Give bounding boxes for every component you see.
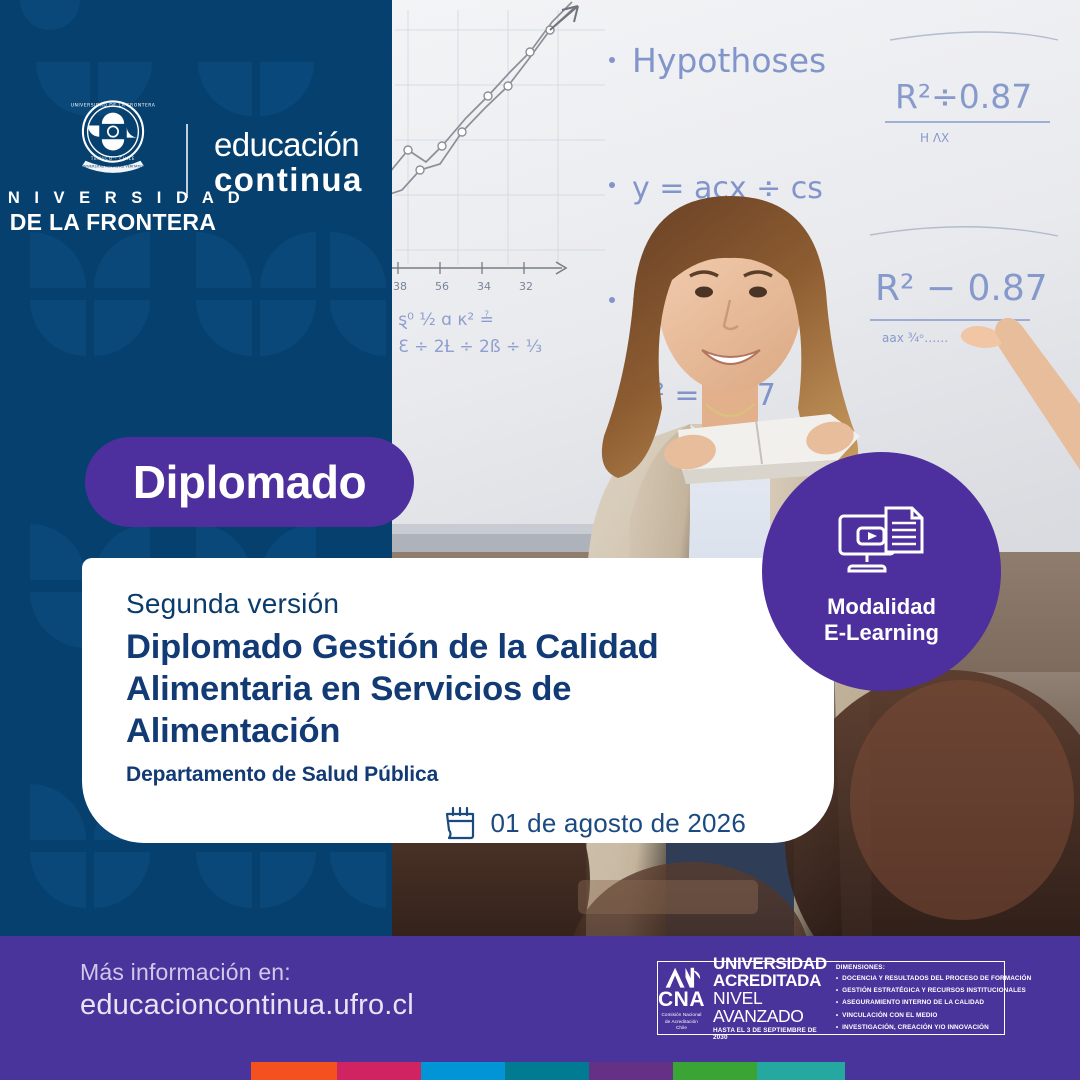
unit-name-line1: educación [214, 128, 363, 161]
stripe-segment [505, 1062, 589, 1080]
accreditation-line4: AVANZADO [713, 1008, 827, 1026]
poster-canvas: 3856 3432 2 ȿ⁰ ½ ɑ κ² ≟ 2 Ɛ ÷ 2Ƚ ÷ 2ß ÷ … [0, 0, 1080, 1080]
accreditation-valid-until: HASTA EL 3 DE SEPTIEMBRE DE 2030 [713, 1027, 827, 1041]
svg-text:34: 34 [477, 280, 491, 293]
logo-divider [186, 124, 188, 198]
more-info-block: Más información en: educacioncontinua.uf… [80, 960, 414, 1021]
modality-label-line2: E-Learning [824, 620, 939, 646]
course-title-line2: Alimentaria en Servicios de [126, 668, 790, 710]
course-date-row: 01 de agosto de 2026 [126, 805, 790, 841]
dimension-item: GESTIÓN ESTRATÉGICA Y RECURSOS INSTITUCI… [836, 985, 1031, 997]
course-version: Segunda versión [126, 588, 790, 620]
website-url[interactable]: educacioncontinua.ufro.cl [80, 989, 414, 1021]
svg-text:32: 32 [519, 280, 533, 293]
calendar-icon [442, 805, 476, 841]
svg-text:38: 38 [393, 280, 407, 293]
course-title: Diplomado Gestión de la Calidad Alimenta… [126, 626, 790, 752]
cna-mark-icon [659, 966, 705, 988]
dimension-item: INVESTIGACIÓN, CREACIÓN Y/O INNOVACIÓN [836, 1022, 1031, 1034]
program-type-badge: Diplomado [85, 437, 414, 527]
dimension-item: ASEGURAMIENTO INTERNO DE LA CALIDAD [836, 997, 1031, 1009]
accreditation-line2: ACREDITADA [713, 973, 827, 990]
modality-label-line1: Modalidad [827, 594, 936, 620]
continuing-education-wordmark: educación continua [214, 128, 363, 200]
accreditation-dimensions-block: DIMENSIONES: DOCENCIA Y RESULTADOS DEL P… [827, 962, 1035, 1034]
university-name-line2: DE LA FRONTERA [10, 209, 217, 236]
stripe-segment [673, 1062, 757, 1080]
dimension-item: VINCULACIÓN CON EL MEDIO [836, 1010, 1031, 1022]
svg-text:aax ¾ᵒ……: aax ¾ᵒ…… [882, 331, 948, 345]
elearning-monitor-document-icon [834, 504, 930, 584]
ufro-crest-icon: UNIVERSIDAD DE LA FRONTERA TEMUCO · CHIL… [70, 92, 156, 178]
svg-text:R²÷0.87: R²÷0.87 [895, 77, 1032, 116]
accreditation-badge: CNA Comisión Nacional de Acreditación Ch… [657, 961, 1005, 1035]
university-name-line1: U N I V E R S I D A D [0, 189, 245, 208]
course-title-line1: Diplomado Gestión de la Calidad [126, 626, 790, 668]
course-title-line3: Alimentación [126, 710, 790, 752]
cna-subtitle-line3: Chile [662, 1025, 702, 1031]
svg-text:H ΛΧ: H ΛΧ [920, 131, 949, 145]
cna-wordmark: CNA [658, 989, 705, 1010]
stripe-segment [757, 1062, 845, 1080]
modality-badge: Modalidad E-Learning [762, 452, 1001, 691]
course-start-date: 01 de agosto de 2026 [490, 808, 746, 839]
svg-text:UNIVERSITAS MENTIS AD VERITATE: UNIVERSITAS MENTIS AD VERITATEM [82, 165, 145, 169]
svg-text:2 Ɛ ÷ 2Ƚ ÷ 2ß ÷ ⅓: 2 Ɛ ÷ 2Ƚ ÷ 2ß ÷ ⅓ [390, 337, 542, 357]
dimensions-header: DIMENSIONES: [836, 964, 1031, 971]
unit-name-line2: continua [214, 163, 363, 196]
svg-text:2 ȿ⁰ ½ ɑ κ² ≟: 2 ȿ⁰ ½ ɑ κ² ≟ [390, 310, 494, 330]
more-info-label: Más información en: [80, 960, 414, 986]
stripe-segment [251, 1062, 337, 1080]
university-crest-block: UNIVERSIDAD DE LA FRONTERA TEMUCO · CHIL… [48, 92, 178, 236]
svg-text:56: 56 [435, 280, 449, 293]
program-type-label: Diplomado [133, 455, 366, 509]
stripe-segment [589, 1062, 673, 1080]
course-info-card: Segunda versión Diplomado Gestión de la … [82, 558, 834, 843]
svg-text:R² − 0.87: R² − 0.87 [875, 268, 1048, 309]
dimension-item: DOCENCIA Y RESULTADOS DEL PROCESO DE FOR… [836, 973, 1031, 985]
brand-color-stripe [251, 1062, 845, 1080]
course-department: Departamento de Salud Pública [126, 763, 790, 787]
accreditation-line1: UNIVERSIDAD [713, 956, 827, 973]
cna-logo-block: CNA Comisión Nacional de Acreditación Ch… [658, 962, 705, 1034]
cna-subtitle: Comisión Nacional de Acreditación Chile [662, 1012, 702, 1031]
svg-text:TEMUCO · CHILE: TEMUCO · CHILE [90, 156, 135, 161]
brand-logo-lockup: UNIVERSIDAD DE LA FRONTERA TEMUCO · CHIL… [48, 92, 363, 236]
cna-subtitle-line2: de Acreditación [662, 1019, 702, 1025]
svg-text:Hypothoses: Hypothoses [632, 41, 826, 80]
cna-subtitle-line1: Comisión Nacional [662, 1012, 702, 1018]
stripe-segment [421, 1062, 505, 1080]
stripe-segment [337, 1062, 421, 1080]
svg-text:UNIVERSIDAD DE LA FRONTERA: UNIVERSIDAD DE LA FRONTERA [71, 103, 156, 109]
accreditation-level-block: UNIVERSIDAD ACREDITADA NIVEL AVANZADO HA… [705, 962, 827, 1034]
